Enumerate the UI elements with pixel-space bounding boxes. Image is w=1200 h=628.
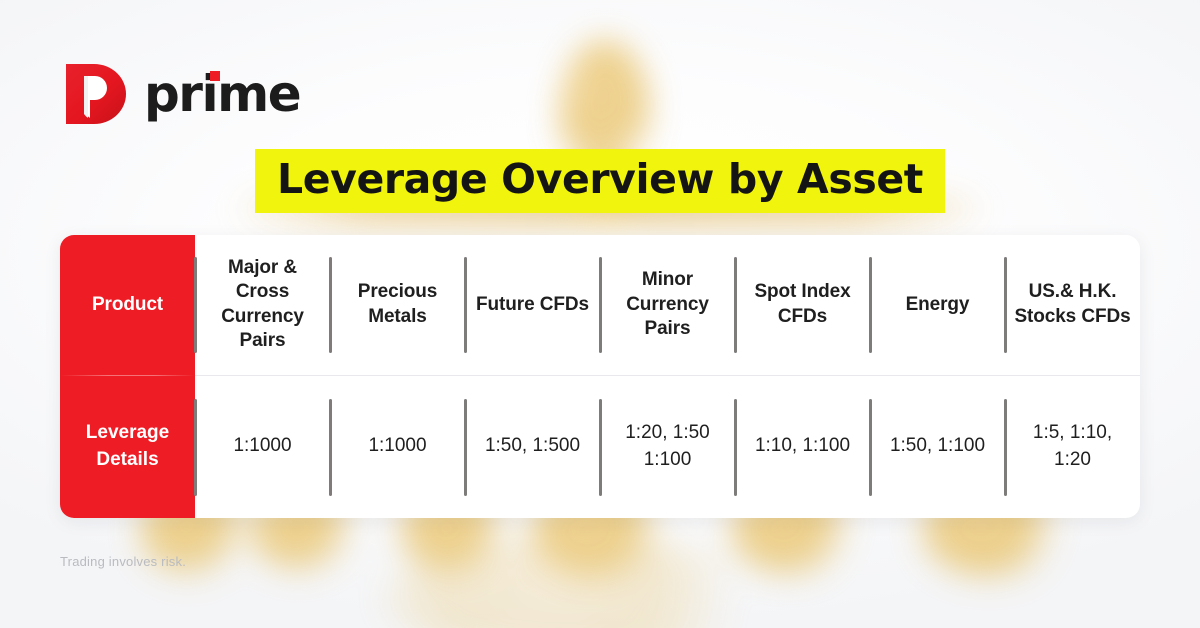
column-header: Energy — [870, 235, 1005, 375]
column-value: 1:50, 1:500 — [465, 376, 600, 519]
table-column-future-cfds: Future CFDs 1:50, 1:500 — [465, 235, 600, 518]
d-prime-logo-icon — [60, 58, 132, 130]
column-divider — [1004, 399, 1007, 496]
table-column-minor-currency-pairs: Minor Currency Pairs 1:20, 1:50 1:100 — [600, 235, 735, 518]
table-column-us-hk-stocks-cfds: US.& H.K. Stocks CFDs 1:5, 1:10, 1:20 — [1005, 235, 1140, 518]
column-value: 1:20, 1:50 1:100 — [600, 376, 735, 519]
column-header: Precious Metals — [330, 235, 465, 375]
column-header: US.& H.K. Stocks CFDs — [1005, 235, 1140, 375]
column-divider — [734, 257, 737, 353]
column-divider — [869, 257, 872, 353]
column-divider — [329, 399, 332, 496]
table-label-column: Product Leverage Details — [60, 235, 195, 518]
column-divider — [599, 399, 602, 496]
leverage-table: Product Leverage Details Major & Cross C… — [60, 235, 1140, 518]
column-divider — [329, 257, 332, 353]
table-column-precious-metals: Precious Metals 1:1000 — [330, 235, 465, 518]
column-value: 1:50, 1:100 — [870, 376, 1005, 519]
column-header: Major & Cross Currency Pairs — [195, 235, 330, 375]
column-divider — [464, 399, 467, 496]
i-dot-accent-icon — [210, 71, 220, 81]
table-column-spot-index-cfds: Spot Index CFDs 1:10, 1:100 — [735, 235, 870, 518]
column-header: Spot Index CFDs — [735, 235, 870, 375]
column-value: 1:1000 — [330, 376, 465, 519]
column-divider — [1004, 257, 1007, 353]
table-column-energy: Energy 1:50, 1:100 — [870, 235, 1005, 518]
column-header: Minor Currency Pairs — [600, 235, 735, 375]
column-divider — [464, 257, 467, 353]
risk-disclaimer: Trading involves risk. — [60, 554, 186, 569]
table-column-major-cross-currency-pairs: Major & Cross Currency Pairs 1:1000 — [195, 235, 330, 518]
column-divider — [194, 257, 197, 353]
page-title: Leverage Overview by Asset — [255, 149, 945, 213]
column-header: Future CFDs — [465, 235, 600, 375]
column-divider — [869, 399, 872, 496]
brand-wordmark: prime — [144, 69, 300, 119]
row-label-product: Product — [60, 235, 195, 375]
column-value: 1:5, 1:10, 1:20 — [1005, 376, 1140, 519]
brand-logo[interactable]: prime — [60, 58, 300, 130]
column-value: 1:10, 1:100 — [735, 376, 870, 519]
row-label-leverage-details: Leverage Details — [60, 376, 195, 519]
page-title-container: Leverage Overview by Asset — [0, 149, 1200, 213]
column-divider — [194, 399, 197, 496]
column-divider — [599, 257, 602, 353]
column-divider — [734, 399, 737, 496]
column-value: 1:1000 — [195, 376, 330, 519]
